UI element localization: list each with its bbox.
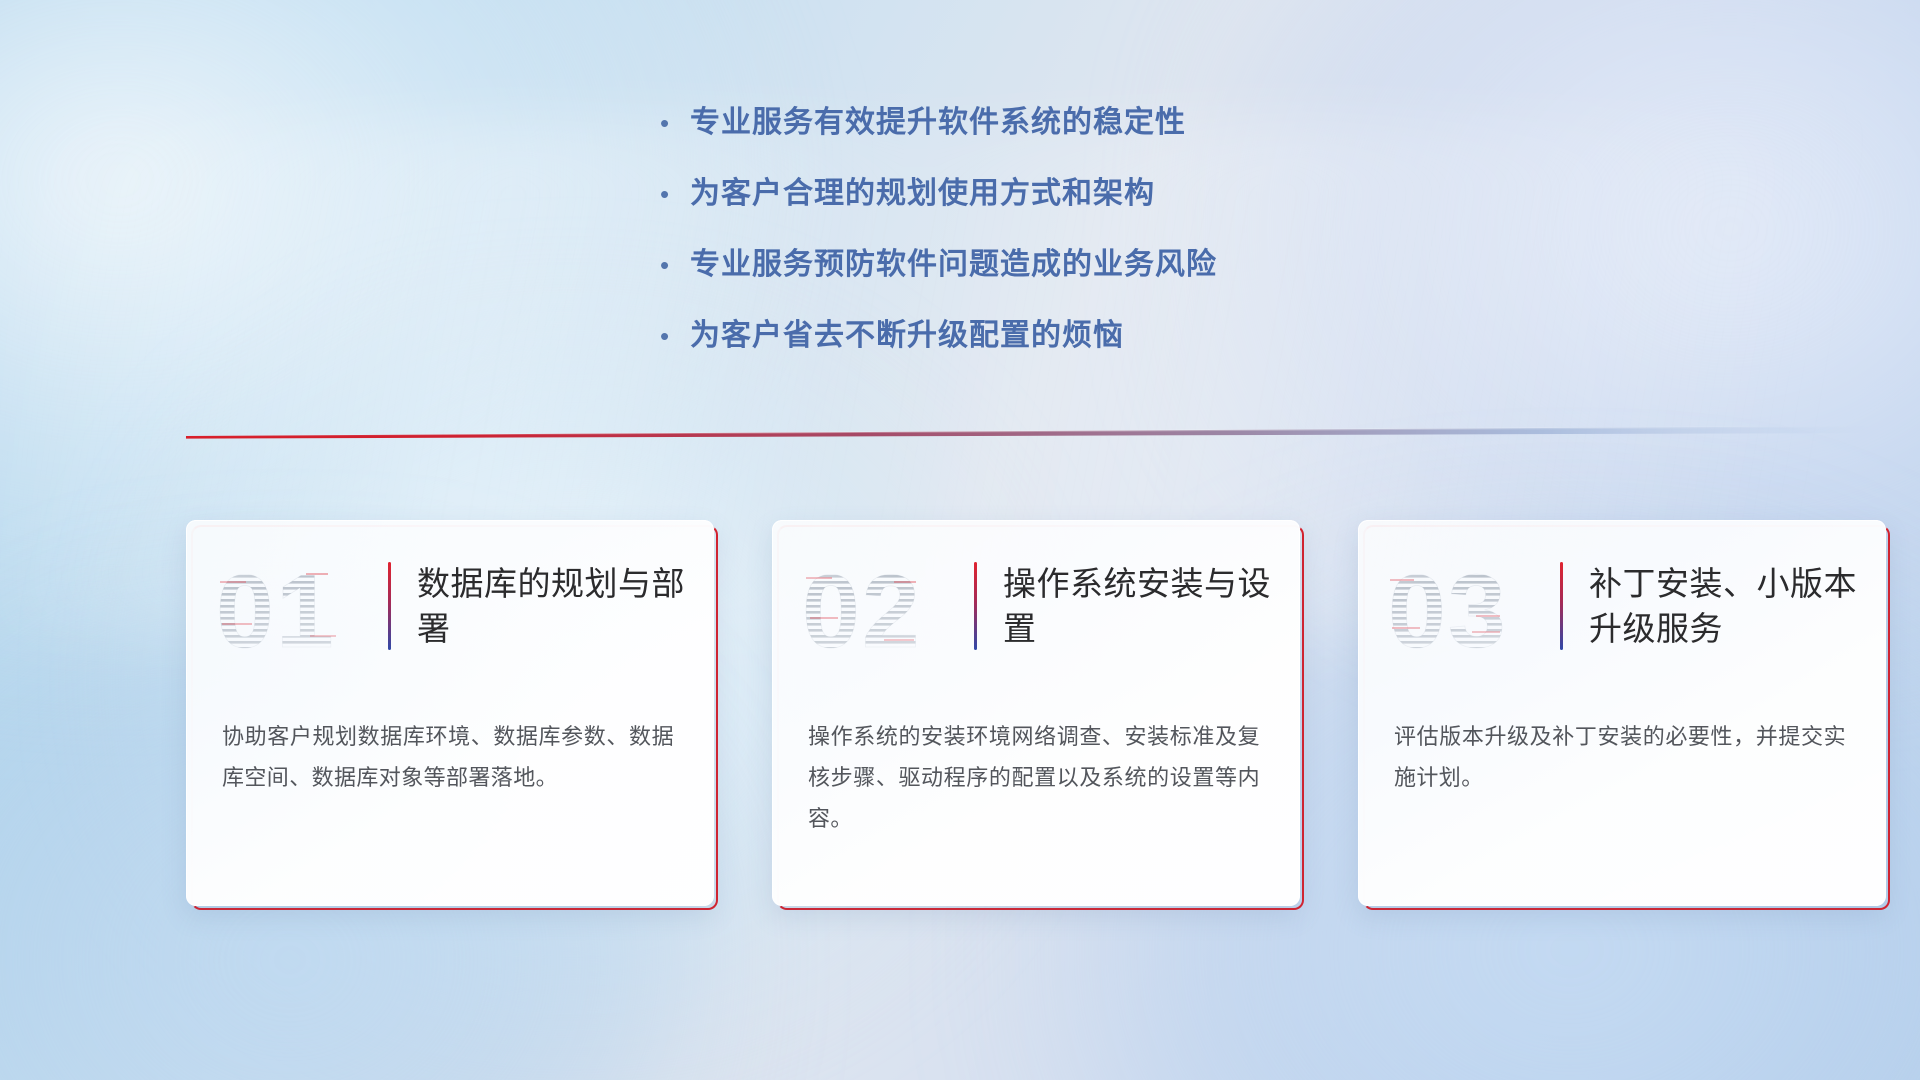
- card-header: 02 02 操作系统安装与设置: [772, 542, 1300, 670]
- service-card[interactable]: 01 01 数据库的规划与部署: [186, 520, 714, 906]
- card-number-watermark: 03 03: [1386, 551, 1554, 661]
- tapered-rule-icon: [186, 424, 1876, 440]
- list-item: • 为客户合理的规划使用方式和架构: [660, 175, 1460, 213]
- card-title: 数据库的规划与部署: [417, 561, 714, 651]
- card-surface: 01 01 数据库的规划与部署: [186, 520, 714, 906]
- bullet-dot-icon: •: [660, 104, 690, 142]
- svg-text:02: 02: [802, 554, 922, 661]
- svg-text:03: 03: [1388, 554, 1508, 661]
- benefits-bullet-list: • 专业服务有效提升软件系统的稳定性 • 为客户合理的规划使用方式和架构 • 专…: [660, 104, 1460, 388]
- card-title-rule: [388, 562, 391, 650]
- slide-canvas: • 专业服务有效提升软件系统的稳定性 • 为客户合理的规划使用方式和架构 • 专…: [0, 0, 1920, 1080]
- bullet-text: 为客户合理的规划使用方式和架构: [690, 175, 1155, 213]
- service-card[interactable]: 03 03 补丁安装、小版本升级服务: [1358, 520, 1886, 906]
- service-card-row: 01 01 数据库的规划与部署: [186, 520, 1886, 920]
- svg-text:01: 01: [216, 554, 336, 661]
- card-header: 01 01 数据库的规划与部署: [186, 542, 714, 670]
- list-item: • 专业服务预防软件问题造成的业务风险: [660, 246, 1460, 284]
- service-card[interactable]: 02 02 操作系统安装与设置: [772, 520, 1300, 906]
- bullet-dot-icon: •: [660, 246, 690, 284]
- card-surface: 02 02 操作系统安装与设置: [772, 520, 1300, 906]
- striped-number-icon: 02 02: [800, 551, 968, 661]
- striped-number-icon: 01 01: [214, 551, 382, 661]
- card-description: 评估版本升级及补丁安装的必要性，并提交实施计划。: [1394, 716, 1846, 798]
- list-item: • 专业服务有效提升软件系统的稳定性: [660, 104, 1460, 142]
- bullet-text: 专业服务预防软件问题造成的业务风险: [690, 246, 1217, 284]
- card-description: 操作系统的安装环境网络调查、安装标准及复核步骤、驱动程序的配置以及系统的设置等内…: [808, 716, 1260, 839]
- bullet-dot-icon: •: [660, 317, 690, 355]
- list-item: • 为客户省去不断升级配置的烦恼: [660, 317, 1460, 355]
- card-number-watermark: 02 02: [800, 551, 968, 661]
- section-divider: [186, 424, 1876, 440]
- card-header: 03 03 补丁安装、小版本升级服务: [1358, 542, 1886, 670]
- card-title-rule: [974, 562, 977, 650]
- bullet-dot-icon: •: [660, 175, 690, 213]
- card-description: 协助客户规划数据库环境、数据库参数、数据库空间、数据库对象等部署落地。: [222, 716, 674, 798]
- striped-number-icon: 03 03: [1386, 551, 1554, 661]
- bullet-text: 为客户省去不断升级配置的烦恼: [690, 317, 1124, 355]
- card-title-rule: [1560, 562, 1563, 650]
- card-title: 操作系统安装与设置: [1003, 561, 1300, 651]
- card-title: 补丁安装、小版本升级服务: [1589, 561, 1886, 651]
- card-surface: 03 03 补丁安装、小版本升级服务: [1358, 520, 1886, 906]
- card-number-watermark: 01 01: [214, 551, 382, 661]
- bullet-text: 专业服务有效提升软件系统的稳定性: [690, 104, 1186, 142]
